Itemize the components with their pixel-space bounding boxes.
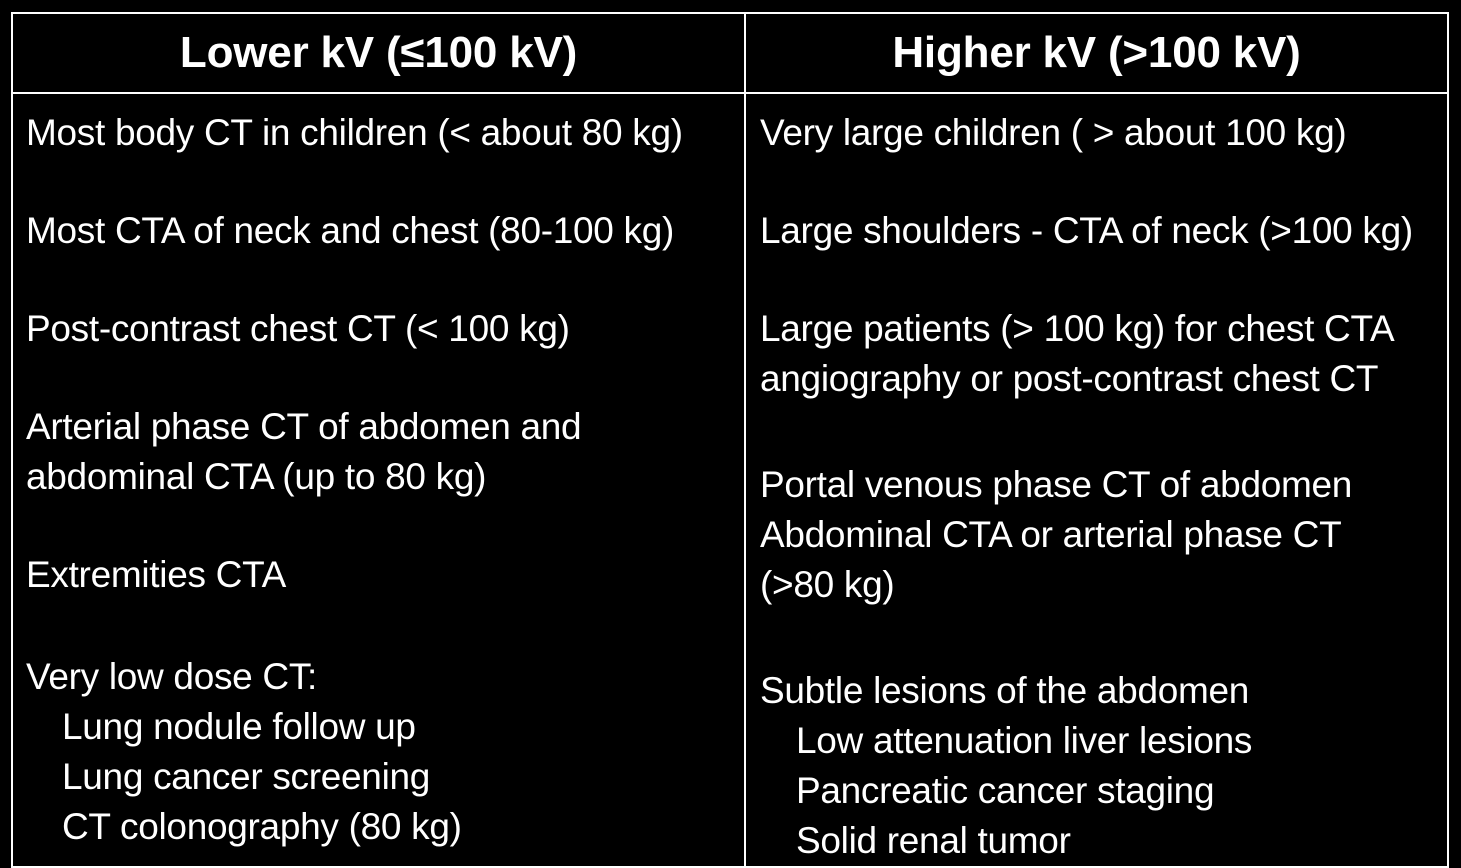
list-item: Extremities CTA <box>26 550 738 600</box>
list-line: Extremities CTA <box>26 550 738 600</box>
list-subline: Lung cancer screening <box>26 752 738 802</box>
list-line: Large shoulders - CTA of neck (>100 kg) <box>760 206 1441 256</box>
list-item: Arterial phase CT of abdomen and abdomin… <box>26 402 738 502</box>
list-line: Large patients (> 100 kg) for chest CTA <box>760 304 1441 354</box>
table-header-row: Lower kV (≤100 kV) Higher kV (>100 kV) <box>12 13 1448 93</box>
list-line: Most CTA of neck and chest (80-100 kg) <box>26 206 738 256</box>
slide-root: Lower kV (≤100 kV) Higher kV (>100 kV) M… <box>0 0 1461 863</box>
kv-comparison-table: Lower kV (≤100 kV) Higher kV (>100 kV) M… <box>11 12 1449 868</box>
list-item: Very low dose CT: Lung nodule follow up … <box>26 652 738 852</box>
list-item: Most CTA of neck and chest (80-100 kg) <box>26 206 738 256</box>
list-line: Very large children ( > about 100 kg) <box>760 108 1441 158</box>
list-item: Post-contrast chest CT (< 100 kg) <box>26 304 738 354</box>
column-body-higher-kv: Very large children ( > about 100 kg) La… <box>745 93 1448 867</box>
list-subline: Lung nodule follow up <box>26 702 738 752</box>
list-line: (>80 kg) <box>760 560 1441 610</box>
list-line: Subtle lesions of the abdomen <box>760 666 1441 716</box>
column-header-higher-kv-label: Higher kV (>100 kV) <box>746 29 1447 77</box>
list-item: Portal venous phase CT of abdomen Abdomi… <box>760 460 1441 610</box>
list-subline: Solid renal tumor <box>760 816 1441 866</box>
lower-kv-content: Most body CT in children (< about 80 kg)… <box>13 94 744 852</box>
list-line: Portal venous phase CT of abdomen <box>760 460 1441 510</box>
list-item: Subtle lesions of the abdomen Low attenu… <box>760 666 1441 866</box>
list-item: Very large children ( > about 100 kg) <box>760 108 1441 158</box>
column-header-lower-kv: Lower kV (≤100 kV) <box>12 13 745 93</box>
list-subline: Pancreatic cancer staging <box>760 766 1441 816</box>
list-line: Very low dose CT: <box>26 652 738 702</box>
list-line: Arterial phase CT of abdomen and <box>26 402 738 452</box>
higher-kv-content: Very large children ( > about 100 kg) La… <box>746 94 1447 866</box>
column-body-lower-kv: Most body CT in children (< about 80 kg)… <box>12 93 745 867</box>
column-header-higher-kv: Higher kV (>100 kV) <box>745 13 1448 93</box>
list-line: angiography or post-contrast chest CT <box>760 354 1441 404</box>
list-item: Large patients (> 100 kg) for chest CTA … <box>760 304 1441 404</box>
list-item: Most body CT in children (< about 80 kg) <box>26 108 738 158</box>
list-item: Large shoulders - CTA of neck (>100 kg) <box>760 206 1441 256</box>
list-line: abdominal CTA (up to 80 kg) <box>26 452 738 502</box>
list-subline: Low attenuation liver lesions <box>760 716 1441 766</box>
column-header-lower-kv-label: Lower kV (≤100 kV) <box>13 29 744 77</box>
list-subline: CT colonography (80 kg) <box>26 802 738 852</box>
list-line: Post-contrast chest CT (< 100 kg) <box>26 304 738 354</box>
table-body-row: Most body CT in children (< about 80 kg)… <box>12 93 1448 867</box>
list-line: Most body CT in children (< about 80 kg) <box>26 108 738 158</box>
list-line: Abdominal CTA or arterial phase CT <box>760 510 1441 560</box>
